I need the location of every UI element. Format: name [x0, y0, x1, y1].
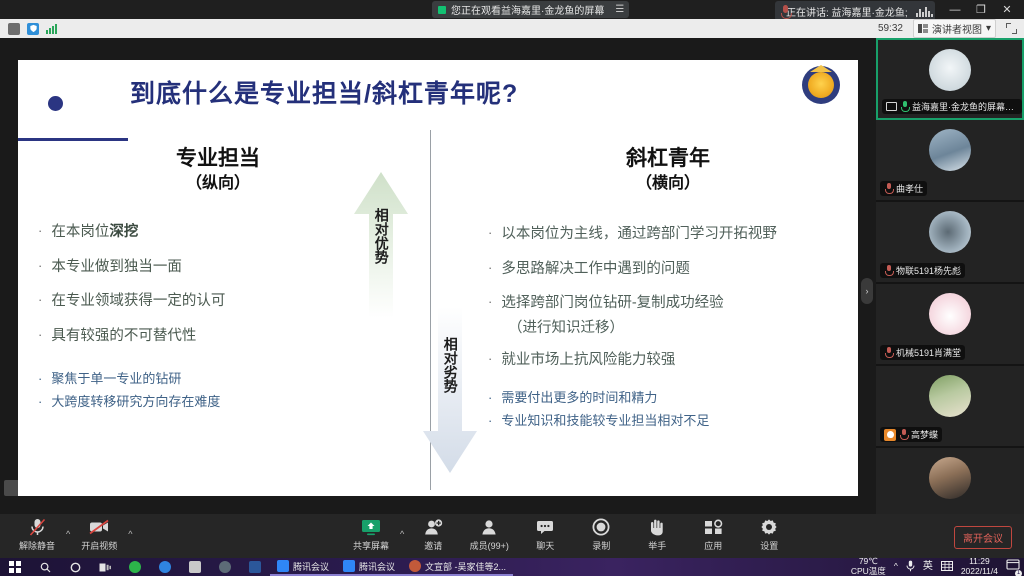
- mic-muted-icon: [884, 265, 893, 276]
- list-item: · 大跨度转移研究方向存在难度: [38, 392, 398, 413]
- settings-button[interactable]: 设置: [742, 517, 796, 552]
- members-button[interactable]: 成员(99+): [462, 517, 516, 552]
- right-heading-text: 斜杠青年: [488, 146, 848, 172]
- bullet-glyph: ·: [488, 258, 492, 280]
- system-tray: 79℃ CPU温度 ^ 英 11:29 2022/11/4 1: [851, 558, 1020, 576]
- mic-icon: [900, 101, 909, 112]
- leave-meeting-button[interactable]: 离开会议: [954, 526, 1012, 549]
- chat-label: 聊天: [536, 539, 554, 552]
- shield-icon[interactable]: [27, 23, 39, 35]
- title-bullet-dot: [48, 96, 63, 111]
- notification-icon[interactable]: 1: [1006, 559, 1020, 575]
- cpu-temp-value: 79℃: [859, 556, 878, 566]
- record-label: 录制: [592, 539, 610, 552]
- record-icon: [592, 517, 610, 537]
- ime-language-indicator[interactable]: 英: [923, 561, 933, 572]
- bullet-text: 聚焦于单一专业的钻研: [51, 369, 181, 390]
- active-speaker-notice[interactable]: 正在讲话: 益海嘉里·金龙鱼;: [775, 1, 935, 21]
- audio-waveform-icon: [916, 5, 933, 17]
- start-video-button[interactable]: 开启视频: [72, 517, 126, 552]
- participant-tile[interactable]: 物联5191杨先彪: [876, 202, 1024, 284]
- bullet-emphasis: 深挖: [109, 224, 138, 240]
- clock-time: 11:29: [969, 556, 990, 566]
- mic-muted-icon: [899, 429, 908, 440]
- share-screen-label: 共享屏幕: [353, 539, 389, 552]
- meeting-toolbar: 解除静音 ^ 开启视频 ^: [0, 514, 1024, 558]
- bullet-glyph: ·: [488, 292, 492, 314]
- windows-start-icon[interactable]: [0, 558, 30, 576]
- bullet-glyph: ·: [38, 392, 42, 413]
- relative-disadvantage-arrow: 相对劣势: [421, 305, 479, 475]
- presentation-slide: 到底什么是专业担当/斜杠青年呢? 相对优势: [18, 60, 858, 496]
- taskbar-window-label: 腾讯会议: [293, 560, 329, 573]
- maximize-restore-button[interactable]: ❐: [968, 0, 994, 19]
- tencent-meeting-icon: [343, 560, 355, 572]
- screen-root: 您正在观看益海嘉里·金龙鱼的屏幕 ☰ 正在讲话: 益海嘉里·金龙鱼; — ❐ ✕: [0, 0, 1024, 576]
- chat-bubble-icon: [535, 517, 555, 537]
- bullet-glyph: ·: [38, 256, 42, 278]
- participant-namebar: 益海嘉里·金龙鱼的屏幕共享: [882, 99, 1022, 114]
- list-item: · 在本岗位深挖: [38, 221, 398, 243]
- mic-options-chevron-icon[interactable]: ^: [66, 529, 70, 552]
- share-options-chevron-icon[interactable]: ^: [400, 529, 404, 552]
- participant-name: 高梦蝶: [911, 428, 938, 441]
- invite-button[interactable]: 邀请: [406, 517, 460, 552]
- bullet-glyph: ·: [38, 325, 42, 347]
- tray-expand-chevron-icon[interactable]: ^: [894, 562, 898, 572]
- qq-browser-icon[interactable]: [150, 558, 180, 576]
- unmute-button[interactable]: 解除静音: [10, 517, 64, 552]
- apps-button[interactable]: 应用: [686, 517, 740, 552]
- bullet-text: 多思路解决工作中遇到的问题: [501, 258, 690, 280]
- invite-user-icon: [423, 517, 443, 537]
- bullet-text: 以本岗位为主线，通过跨部门学习开拓视野: [501, 223, 777, 245]
- view-mode-label: 演讲者视图: [932, 21, 982, 36]
- screenshot-tool-icon[interactable]: [180, 558, 210, 576]
- avatar: [929, 49, 971, 91]
- window-controls: — ❐ ✕: [942, 0, 1020, 19]
- notification-count: 1: [1015, 570, 1022, 576]
- participant-tile[interactable]: 机械5191肖满堂: [876, 284, 1024, 366]
- participant-name: 物联5191杨先彪: [896, 264, 961, 277]
- avatar: [929, 211, 971, 253]
- cpu-temp-label: CPU温度: [851, 566, 886, 576]
- right-column: 斜杠青年 （横向） · 以本岗位为主线，通过跨部门学习开拓视野 · 多思路解决工…: [488, 146, 848, 433]
- signal-bars-icon[interactable]: [46, 24, 57, 34]
- slide-title: 到底什么是专业担当/斜杠青年呢?: [130, 74, 518, 110]
- bullet-text: 选择跨部门岗位钻研-复制成功经验: [501, 292, 723, 314]
- right-sub-line: （进行知识迁移）: [488, 317, 848, 339]
- lock-icon[interactable]: [8, 23, 20, 35]
- qq-group-icon: [409, 560, 421, 572]
- participant-tile-host[interactable]: 高梦蝶: [876, 366, 1024, 448]
- right-column-heading: 斜杠青年 （横向）: [488, 146, 848, 195]
- windows-taskbar: 腾讯会议 腾讯会议 文宣部 -吴家佳等2... 79℃ CPU温度 ^ 英: [0, 558, 1024, 576]
- bullet-text: 具有较强的不可替代性: [51, 325, 196, 347]
- share-screen-icon: [886, 102, 897, 111]
- window-title-bar: 您正在观看益海嘉里·金龙鱼的屏幕 ☰ 正在讲话: 益海嘉里·金龙鱼; — ❐ ✕: [0, 0, 1024, 19]
- steam-icon[interactable]: [210, 558, 240, 576]
- bullet-glyph: ·: [488, 349, 492, 371]
- avatar: [929, 129, 971, 171]
- participant-namebar: 高梦蝶: [880, 427, 942, 442]
- apps-icon: [704, 517, 723, 537]
- bullet-text: 本专业做到独当一面: [51, 256, 182, 278]
- host-badge-icon: [884, 429, 896, 441]
- list-item: · 具有较强的不可替代性: [38, 325, 398, 347]
- bullet-glyph: ·: [38, 369, 42, 390]
- record-button[interactable]: 录制: [574, 517, 628, 552]
- participant-tile[interactable]: 曲孝仕: [876, 120, 1024, 202]
- list-item: · 就业市场上抗风险能力较强: [488, 349, 848, 371]
- mic-muted-icon: [884, 183, 893, 194]
- fullscreen-icon[interactable]: [1006, 23, 1017, 34]
- speaker-view-icon: [918, 24, 928, 33]
- right-blue-bullet-list: · 需要付出更多的时间和精力 · 专业知识和技能较专业担当相对不足: [488, 388, 848, 432]
- taskbar-window-qq-group[interactable]: 文宣部 -吴家佳等2...: [402, 558, 513, 576]
- right-subheading-text: （横向）: [488, 172, 848, 195]
- bullet-glyph: ·: [488, 223, 492, 245]
- list-item: · 多思路解决工作中遇到的问题: [488, 258, 848, 280]
- taskbar-left: 腾讯会议 腾讯会议 文宣部 -吴家佳等2...: [0, 558, 513, 576]
- cortana-icon[interactable]: [60, 558, 90, 576]
- toolbar-left-group: 解除静音 ^ 开启视频 ^: [10, 517, 132, 552]
- invite-label: 邀请: [424, 539, 442, 552]
- keyboard-icon[interactable]: [941, 561, 953, 574]
- left-bullet-list: · 在本岗位深挖 · 本专业做到独当一面 · 在专业领域获得一定的认可 · 具有…: [38, 221, 398, 347]
- search-icon[interactable]: [30, 558, 60, 576]
- members-label: 成员(99+): [470, 539, 509, 552]
- left-blue-bullet-list: · 聚焦于单一专业的钻研 · 大跨度转移研究方向存在难度: [38, 369, 398, 413]
- bullet-text: 在本岗位: [51, 224, 109, 240]
- avatar: [929, 375, 971, 417]
- participant-name: 机械5191肖满堂: [896, 346, 961, 359]
- left-subheading-text: （纵向）: [38, 172, 398, 195]
- screen-sharing-notice[interactable]: 您正在观看益海嘉里·金龙鱼的屏幕 ☰: [432, 1, 629, 18]
- taskbar-window-label: 文宣部 -吴家佳等2...: [425, 560, 506, 573]
- share-screen-icon: [361, 517, 381, 537]
- participant-rail[interactable]: 益海嘉里·金龙鱼的屏幕共享 曲孝仕 物联5191杨先彪 机械5191肖满堂: [876, 38, 1024, 514]
- mic-icon[interactable]: [906, 560, 915, 575]
- participant-tile-sharer[interactable]: 益海嘉里·金龙鱼的屏幕共享: [876, 38, 1024, 120]
- word-icon[interactable]: [240, 558, 270, 576]
- cpu-temperature-indicator[interactable]: 79℃ CPU温度: [851, 557, 886, 576]
- relative-disadvantage-label: 相对劣势: [441, 337, 459, 393]
- list-item: · 专业知识和技能较专业担当相对不足: [488, 411, 848, 432]
- active-speaker-text: 正在讲话: 益海嘉里·金龙鱼;: [786, 4, 908, 19]
- sharing-notice-text: 您正在观看益海嘉里·金龙鱼的屏幕: [451, 2, 604, 17]
- wechat-icon[interactable]: [120, 558, 150, 576]
- participant-name: 益海嘉里·金龙鱼的屏幕共享: [912, 100, 1018, 113]
- list-item: · 聚焦于单一专业的钻研: [38, 369, 398, 390]
- participant-namebar: 机械5191肖满堂: [880, 345, 965, 360]
- camera-options-chevron-icon[interactable]: ^: [128, 529, 132, 552]
- apps-label: 应用: [704, 539, 722, 552]
- list-item: · 选择跨部门岗位钻研-复制成功经验: [488, 292, 848, 314]
- company-emblem-icon: [802, 66, 840, 104]
- avatar: [929, 293, 971, 335]
- sharing-status-indicator: [438, 6, 446, 14]
- bullet-glyph: ·: [488, 388, 492, 409]
- bullet-text: 在专业领域获得一定的认可: [51, 290, 225, 312]
- left-column: 专业担当 （纵向） · 在本岗位深挖 · 本专业做到独当一面 · 在专业领域获得…: [38, 146, 398, 415]
- taskbar-clock[interactable]: 11:29 2022/11/4: [961, 557, 998, 576]
- bullet-text: 需要付出更多的时间和精力: [501, 388, 657, 409]
- toolbar-center-group: 共享屏幕 ^ 邀请: [344, 517, 796, 552]
- minimize-button[interactable]: —: [942, 0, 968, 19]
- mic-muted-icon: [884, 347, 893, 358]
- raise-hand-icon: [649, 517, 665, 537]
- meeting-info-bar: 59:32 演讲者视图 ▾: [0, 19, 1024, 38]
- task-view-icon[interactable]: [90, 558, 120, 576]
- avatar: [929, 457, 971, 499]
- participant-name: 曲孝仕: [896, 182, 923, 195]
- mic-muted-icon: [29, 517, 46, 537]
- unmute-label: 解除静音: [19, 539, 55, 552]
- view-mode-selector[interactable]: 演讲者视图 ▾: [913, 19, 996, 38]
- list-item: · 本专业做到独当一面: [38, 256, 398, 278]
- bullet-glyph: ·: [488, 411, 492, 432]
- share-screen-button[interactable]: 共享屏幕: [344, 517, 398, 552]
- meeting-info-icons: [0, 23, 57, 35]
- members-icon: [479, 517, 499, 537]
- settings-label: 设置: [760, 539, 778, 552]
- raise-hand-button[interactable]: 举手: [630, 517, 684, 552]
- camera-off-icon: [89, 517, 110, 537]
- bullet-glyph: ·: [38, 290, 42, 312]
- participant-namebar: 曲孝仕: [880, 181, 927, 196]
- tencent-meeting-icon: [277, 560, 289, 572]
- bullet-text: 就业市场上抗风险能力较强: [501, 349, 675, 371]
- rail-collapse-handle[interactable]: ›: [861, 278, 873, 304]
- meeting-timer: 59:32: [878, 23, 903, 34]
- list-item: · 在专业领域获得一定的认可: [38, 290, 398, 312]
- close-button[interactable]: ✕: [994, 0, 1020, 19]
- list-item: · 以本岗位为主线，通过跨部门学习开拓视野: [488, 223, 848, 245]
- clock-date: 2022/11/4: [961, 566, 998, 576]
- gear-icon: [760, 517, 778, 537]
- bullet-text: 大跨度转移研究方向存在难度: [51, 392, 220, 413]
- list-item: · 需要付出更多的时间和精力: [488, 388, 848, 409]
- start-video-label: 开启视频: [81, 539, 117, 552]
- raise-hand-label: 举手: [648, 539, 666, 552]
- title-underline: [18, 138, 128, 141]
- taskbar-window-label: 腾讯会议: [359, 560, 395, 573]
- taskbar-window-tencent-meeting-2[interactable]: 腾讯会议: [336, 558, 402, 576]
- more-menu-icon[interactable]: ☰: [615, 4, 623, 15]
- shared-screen-stage: › 到底什么是专业担当/斜杠青年呢?: [0, 38, 876, 514]
- bullet-text: 专业知识和技能较专业担当相对不足: [501, 411, 709, 432]
- left-column-heading: 专业担当 （纵向）: [38, 146, 398, 195]
- chevron-down-icon: ▾: [986, 23, 991, 34]
- meeting-info-right: 59:32 演讲者视图 ▾: [878, 19, 1024, 38]
- left-heading-text: 专业担当: [38, 146, 398, 172]
- bullet-glyph: ·: [38, 221, 42, 243]
- chat-button[interactable]: 聊天: [518, 517, 572, 552]
- right-bullet-list: · 以本岗位为主线，通过跨部门学习开拓视野 · 多思路解决工作中遇到的问题 · …: [488, 223, 848, 371]
- participant-namebar: 物联5191杨先彪: [880, 263, 965, 278]
- taskbar-window-tencent-meeting-1[interactable]: 腾讯会议: [270, 558, 336, 576]
